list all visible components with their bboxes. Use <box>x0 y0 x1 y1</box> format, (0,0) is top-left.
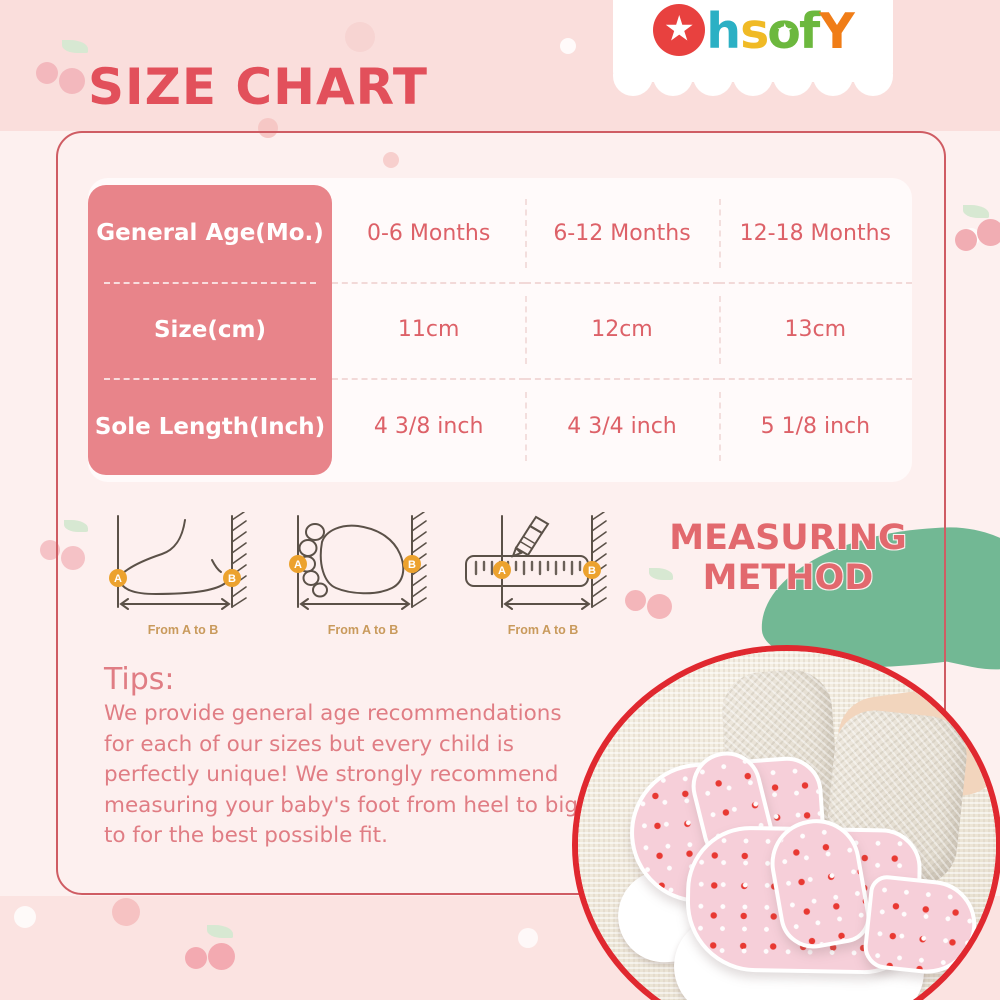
cell-age-6-12: 6-12 Months <box>525 185 718 282</box>
size-chart-poster: SIZE CHART h s o f Y General Age(Mo.) Si… <box>0 0 1000 1000</box>
logo-letter-o2: o <box>767 7 799 56</box>
cell-size-11cm: 11cm <box>332 282 525 379</box>
size-table: General Age(Mo.) Size(cm) Sole Length(In… <box>88 178 912 482</box>
page-title: SIZE CHART <box>88 58 428 116</box>
cherry-decoration <box>955 205 1000 255</box>
svg-text:A: A <box>498 565 506 577</box>
diagram-foot-side-view: A B From A to B <box>100 512 266 637</box>
diagram-caption: From A to B <box>460 623 626 637</box>
brand-logo: h s o f Y <box>613 0 893 82</box>
pencil-icon <box>513 517 548 556</box>
measuring-method-line2: METHOD <box>648 558 928 598</box>
size-table-row-labels: General Age(Mo.) Size(cm) Sole Length(In… <box>88 185 332 475</box>
product-photo <box>572 645 1000 1000</box>
decor-dot <box>14 906 36 928</box>
size-table-values: 0-6 Months 6-12 Months 12-18 Months 11cm… <box>332 185 912 475</box>
tips-body: We provide general age recommendations f… <box>104 699 584 852</box>
diagram-foot-top-view: A B From A to B <box>280 512 446 637</box>
brand-logo-text: h s o f Y <box>653 4 853 56</box>
logo-letter-h: h <box>706 7 739 56</box>
decor-dot <box>345 22 375 52</box>
decor-dot <box>112 898 140 926</box>
measuring-method-line1: MEASURING <box>648 518 928 558</box>
diagram-ruler-view: A B From A to B <box>460 512 626 637</box>
tips-title: Tips: <box>104 662 584 697</box>
row-label-sole-length: Sole Length(Inch) <box>88 378 332 475</box>
cell-age-12-18: 12-18 Months <box>719 185 912 282</box>
cell-sole-5-1-8: 5 1/8 inch <box>719 378 912 475</box>
row-label-general-age: General Age(Mo.) <box>88 185 332 282</box>
logo-letter-o-star-icon <box>653 4 705 56</box>
diagram-caption: From A to B <box>100 623 266 637</box>
svg-text:B: B <box>228 573 236 585</box>
diagram-caption: From A to B <box>280 623 446 637</box>
tips-block: Tips: We provide general age recommendat… <box>104 662 584 852</box>
logo-letter-f: f <box>799 7 818 56</box>
cell-sole-4-3-8: 4 3/8 inch <box>332 378 525 475</box>
svg-text:A: A <box>294 559 302 571</box>
measuring-diagrams: A B From A to B <box>100 512 630 637</box>
decor-dot <box>518 928 538 948</box>
cherry-print-pattern <box>866 878 976 974</box>
logo-scallop-edge <box>613 74 893 96</box>
cell-sole-4-3-4: 4 3/4 inch <box>525 378 718 475</box>
cherry-decoration <box>185 925 245 975</box>
row-label-size-cm: Size(cm) <box>88 282 332 379</box>
svg-text:B: B <box>408 559 416 571</box>
measuring-method-heading: MEASURING METHOD <box>648 518 928 599</box>
cell-age-0-6: 0-6 Months <box>332 185 525 282</box>
logo-letter-s: s <box>740 7 767 56</box>
cell-size-12cm: 12cm <box>525 282 718 379</box>
cell-size-13cm: 13cm <box>719 282 912 379</box>
cherry-decoration <box>36 40 96 90</box>
logo-letter-y: Y <box>819 7 852 56</box>
decor-dot <box>560 38 576 54</box>
svg-text:B: B <box>588 565 596 577</box>
svg-text:A: A <box>114 573 122 585</box>
